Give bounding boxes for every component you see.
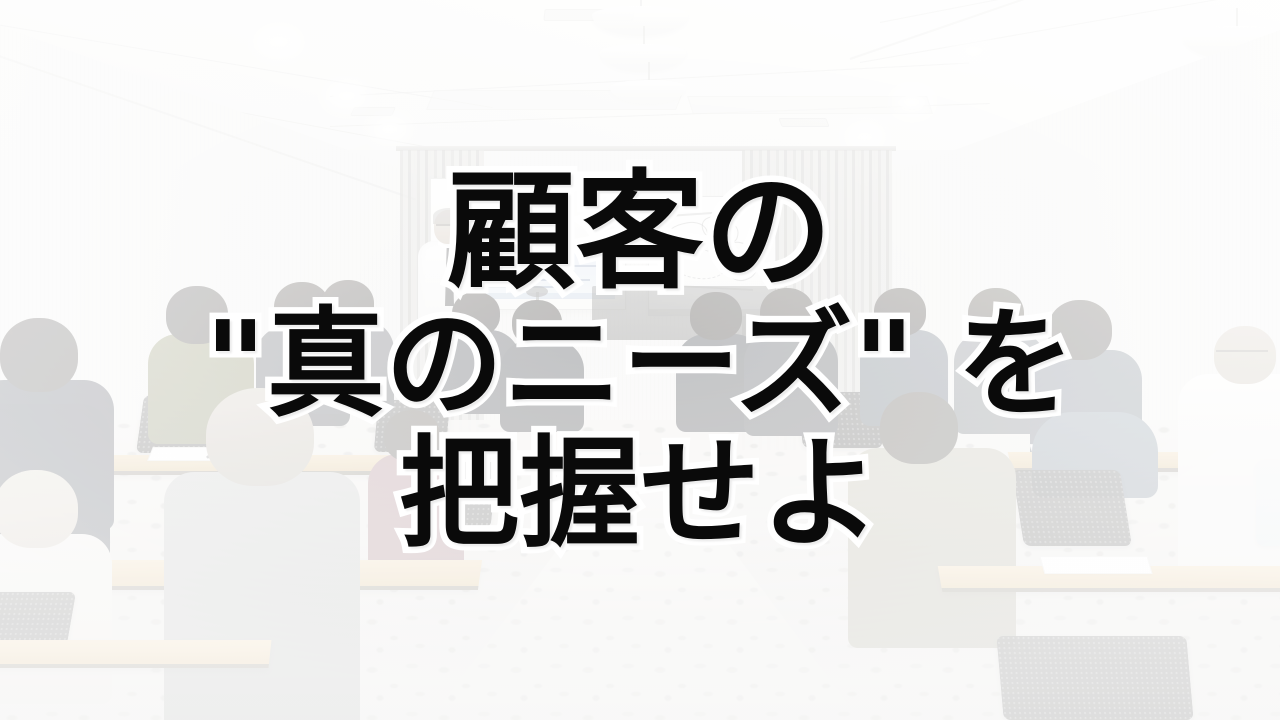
thumbnail-canvas: 顧客の "真のニーズ" を 把握せよ [0, 0, 1280, 720]
headline-line-2: "真のニーズ" を [205, 305, 1075, 423]
headline-line-3: 把握せよ [399, 435, 881, 555]
headline-line-1: 顧客の [447, 169, 833, 297]
title-overlay: 顧客の "真のニーズ" を 把握せよ [0, 0, 1280, 720]
